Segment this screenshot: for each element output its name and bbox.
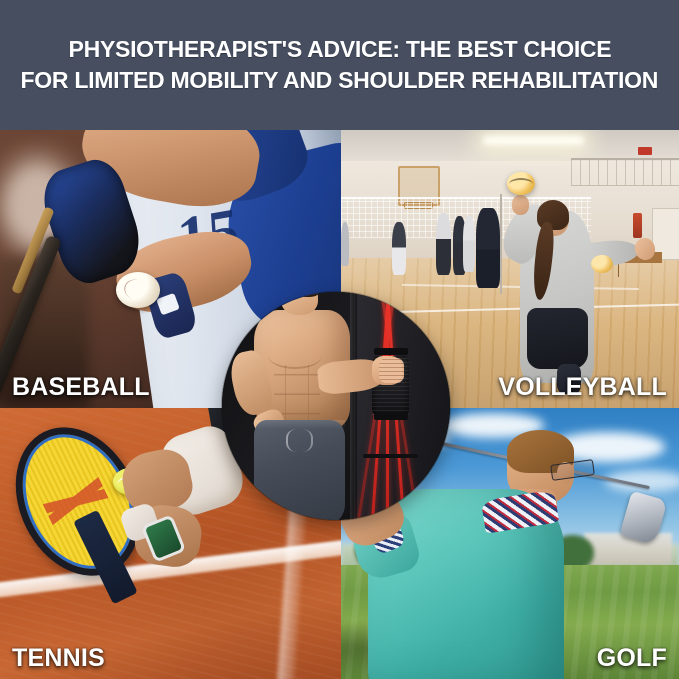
exit-sign-icon (638, 147, 652, 155)
model-waistband (254, 420, 345, 429)
flex-bar-cap-bottom (374, 413, 408, 420)
sport-label-golf: GOLF (597, 644, 667, 673)
volleyball-ceiling-light (483, 136, 584, 146)
circle-backdrop-edge (350, 292, 357, 520)
flex-bar-mid-marker (363, 454, 418, 458)
sport-label-volleyball: VOLLEYBALL (498, 373, 667, 402)
volleyball-player-4 (463, 216, 475, 272)
volleyball-server-left-hand (512, 195, 529, 214)
baseball-ball (116, 272, 160, 308)
volleyball-net-post (500, 194, 502, 294)
model-hair (280, 292, 319, 297)
header-title-line-1: PHYSIOTHERAPIST'S ADVICE: THE BEST CHOIC… (68, 34, 611, 65)
sport-label-tennis: TENNIS (12, 644, 105, 673)
volleyball-gym-ceiling (341, 130, 679, 161)
fire-extinguisher-icon (633, 213, 642, 238)
volleyball-player-5 (476, 208, 500, 289)
sport-label-baseball: BASEBALL (12, 373, 150, 402)
volleyball-wall-rail (571, 158, 679, 186)
poster-header: PHYSIOTHERAPIST'S ADVICE: THE BEST CHOIC… (0, 0, 679, 130)
model-drawstring (286, 429, 313, 452)
volleyball-player-far-left (341, 222, 349, 266)
model-gripping-fingers (379, 358, 404, 383)
center-product-circle (222, 292, 450, 520)
volleyball-player-2 (436, 213, 451, 274)
volleyball-server-shorts (527, 308, 588, 369)
volleyball-player-1 (392, 222, 406, 275)
header-title-line-2: FOR LIMITED MOBILITY AND SHOULDER REHABI… (21, 65, 659, 96)
product-infographic-poster: PHYSIOTHERAPIST'S ADVICE: THE BEST CHOIC… (0, 0, 679, 679)
flex-bar-cap-top (374, 348, 408, 355)
